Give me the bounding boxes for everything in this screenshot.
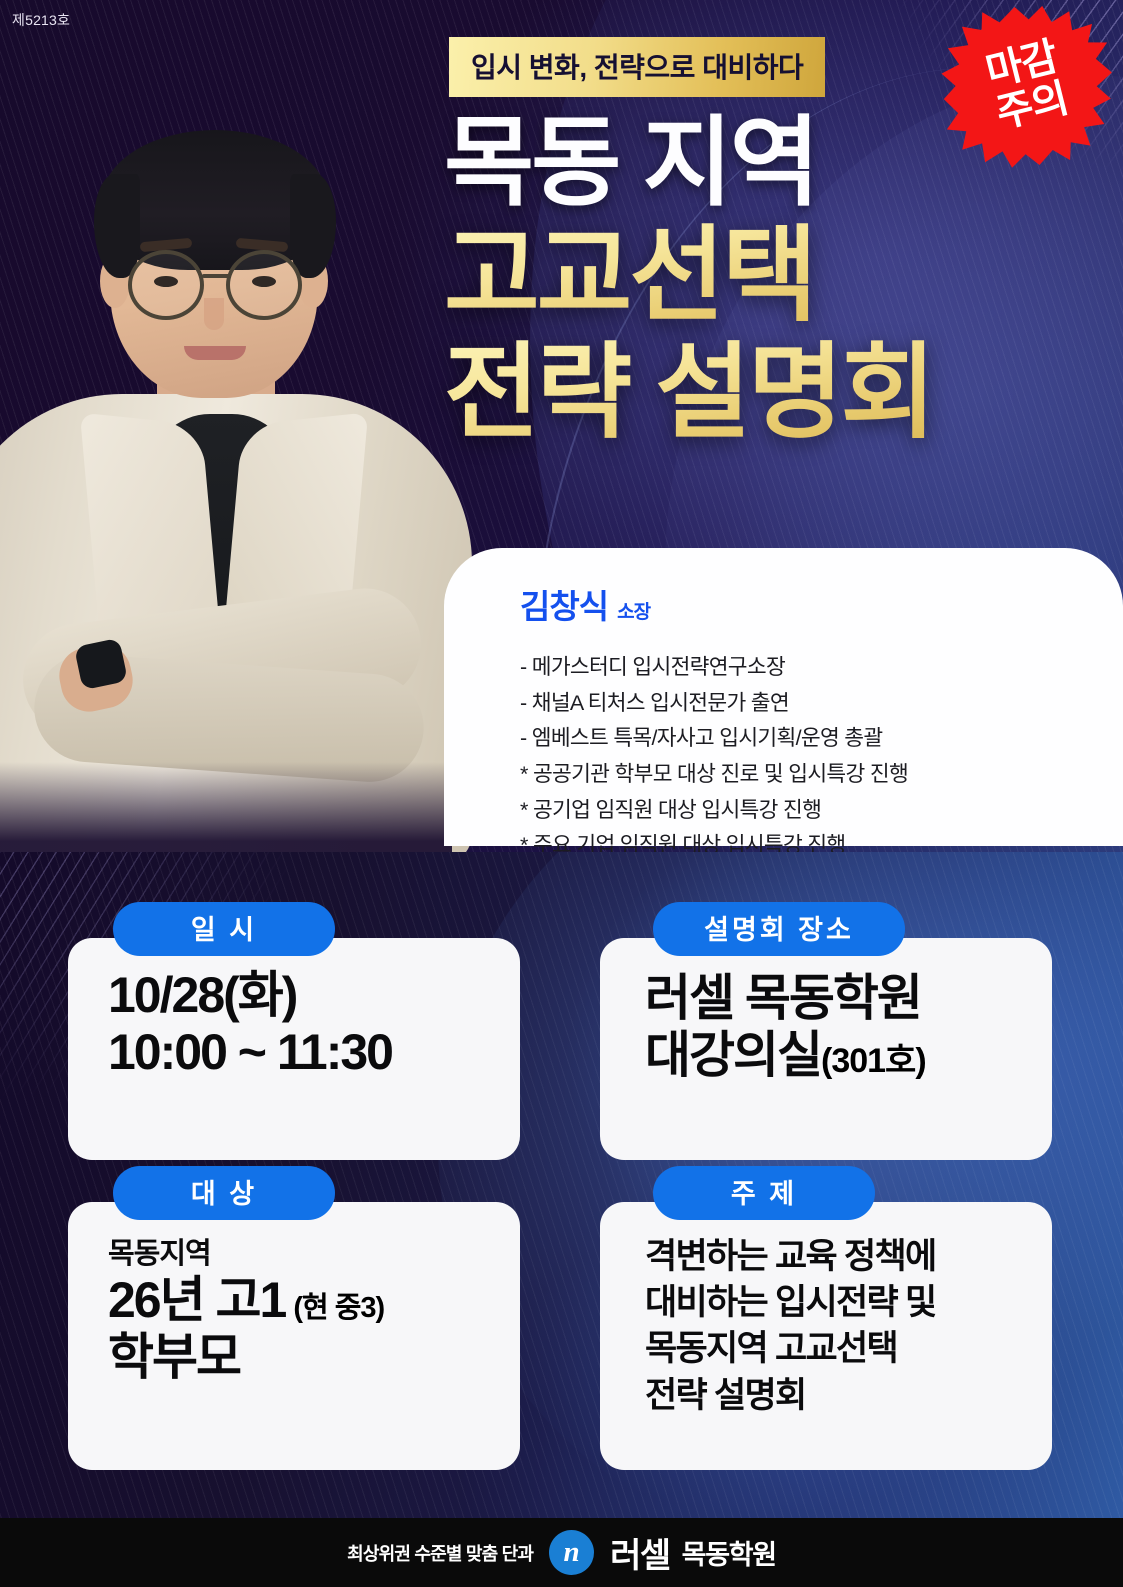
speaker-credentials-list: - 메가스터디 입시전략연구소장 - 채널A 티처스 입시전문가 출연 - 엠베… <box>520 650 1123 852</box>
credential-item: - 메가스터디 입시전략연구소장 <box>520 650 1123 686</box>
date-card-body: 10/28(화) 10:00 ~ 11:30 <box>108 967 392 1081</box>
topic-line: 격변하는 교육 정책에 <box>645 1234 936 1280</box>
speaker-profile-card: 김창식 소장 - 메가스터디 입시전략연구소장 - 채널A 티처스 입시전문가 … <box>444 548 1123 846</box>
topic-card-body: 격변하는 교육 정책에 대비하는 입시전략 및 목동지역 고교선택 전략 설명회 <box>645 1234 936 1419</box>
footer-brand: 러셀 <box>610 1528 670 1577</box>
topic-card-label: 주 제 <box>653 1166 875 1220</box>
portrait-hair-side-right <box>290 174 336 278</box>
footer-brand-branch: 목동학원 <box>682 1533 776 1572</box>
credential-item: - 엠베스트 특목/자사고 입시기획/운영 총괄 <box>520 721 1123 757</box>
portrait-hair-side-left <box>94 174 140 278</box>
deadline-warning-badge: 마감 주의 <box>930 0 1123 178</box>
venue-card-label: 설명회 장소 <box>653 902 905 956</box>
credential-item: * 공공기관 학부모 대상 진로 및 입시특강 진행 <box>520 757 1123 793</box>
portrait-bottom-fade <box>0 762 452 852</box>
date-card-label: 일 시 <box>113 902 335 956</box>
title-line-3: 전략 설명회 <box>444 335 933 453</box>
venue-room-number: (301호) <box>821 1033 926 1082</box>
hero-section: 제5213호 입시 변화, 전략으로 대비하다 마감 주의 목동 지역 고교선택… <box>0 0 1123 852</box>
issue-number: 제5213호 <box>12 10 70 30</box>
info-section: 일 시 10/28(화) 10:00 ~ 11:30 설명회 장소 러셀 목동학… <box>0 852 1123 1518</box>
credential-item: * 주요 기업 임직원 대상 입시특강 진행 <box>520 828 1123 852</box>
date-value: 10/28(화) <box>108 967 392 1024</box>
speaker-name-row: 김창식 소장 <box>520 580 1123 628</box>
target-grade-note: (현 중3) <box>293 1284 384 1326</box>
target-grade-row: 26년 고1 (현 중3) <box>108 1272 384 1329</box>
hero-tagline: 입시 변화, 전략으로 대비하다 <box>449 37 825 97</box>
title-line-1: 목동 지역 <box>444 108 933 218</box>
russell-logo-icon: n <box>549 1530 594 1575</box>
speaker-name: 김창식 <box>520 580 608 628</box>
glasses-bridge-icon <box>202 274 230 278</box>
credential-item: * 공기업 임직원 대상 입시특강 진행 <box>520 793 1123 829</box>
glasses-lens-left-icon <box>128 250 204 320</box>
target-grade: 26년 고1 <box>108 1272 285 1329</box>
venue-name: 러셀 목동학원 <box>645 970 926 1027</box>
credential-item: - 채널A 티처스 입시전문가 출연 <box>520 686 1123 722</box>
footer-slogan: 최상위권 수준별 맞춤 단과 <box>347 1540 533 1566</box>
glasses-lens-right-icon <box>226 250 302 320</box>
title-line-2: 고교선택 <box>444 218 933 336</box>
target-region: 목동지역 <box>108 1230 384 1272</box>
speaker-portrait <box>0 46 452 852</box>
topic-line: 대비하는 입시전략 및 <box>645 1280 936 1326</box>
target-card-body: 목동지역 26년 고1 (현 중3) 학부모 <box>108 1230 384 1386</box>
portrait-nose <box>204 298 224 330</box>
main-title: 목동 지역 고교선택 전략 설명회 <box>444 108 933 453</box>
poster-root: 제5213호 입시 변화, 전략으로 대비하다 마감 주의 목동 지역 고교선택… <box>0 0 1123 1587</box>
venue-room-row: 대강의실 (301호) <box>645 1027 926 1084</box>
target-card-label: 대 상 <box>113 1166 335 1220</box>
venue-room: 대강의실 <box>645 1027 821 1084</box>
info-card-grid: 일 시 10/28(화) 10:00 ~ 11:30 설명회 장소 러셀 목동학… <box>0 852 1123 1518</box>
topic-line: 목동지역 고교선택 <box>645 1326 936 1372</box>
topic-line: 전략 설명회 <box>645 1373 936 1419</box>
target-audience: 학부모 <box>108 1329 384 1386</box>
footer-bar: 최상위권 수준별 맞춤 단과 n 러셀 목동학원 <box>0 1518 1123 1587</box>
time-value: 10:00 ~ 11:30 <box>108 1024 392 1081</box>
venue-card-body: 러셀 목동학원 대강의실 (301호) <box>645 970 926 1084</box>
speaker-role: 소장 <box>617 597 650 624</box>
portrait-mouth <box>184 346 246 360</box>
